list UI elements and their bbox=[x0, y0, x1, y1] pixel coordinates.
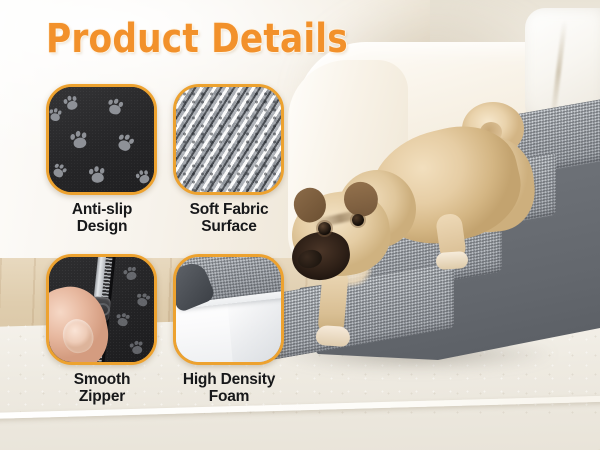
thumbnail-anti-slip-design bbox=[46, 84, 157, 195]
callout-high-density-foam: High Density Foam bbox=[173, 254, 285, 405]
callout-label-smooth-zipper: Smooth Zipper bbox=[46, 372, 158, 405]
callout-label-high-density-foam: High Density Foam bbox=[173, 372, 285, 405]
paw-print-icon bbox=[47, 107, 63, 122]
paw-print-icon bbox=[133, 291, 152, 309]
pug-dog bbox=[286, 96, 556, 366]
page-title: Product Details bbox=[46, 16, 348, 62]
callout-label-line-2: Design bbox=[46, 219, 158, 236]
zipper-fabric-swatch bbox=[49, 257, 154, 362]
anti-slip-fabric-swatch bbox=[49, 87, 154, 192]
callout-label-line-1: Anti-slip bbox=[46, 202, 158, 219]
callout-smooth-zipper: Smooth Zipper bbox=[46, 254, 158, 405]
paw-print-icon bbox=[49, 161, 69, 181]
callout-label-anti-slip-design: Anti-slip Design bbox=[46, 202, 158, 235]
callout-label-line-1: High Density bbox=[173, 372, 285, 389]
callout-anti-slip-design: Anti-slip Design bbox=[46, 84, 158, 235]
dog-eye-right bbox=[352, 214, 364, 226]
paw-print-icon bbox=[105, 97, 126, 117]
thumbnail-soft-fabric-surface bbox=[173, 84, 284, 195]
paw-print-icon bbox=[122, 265, 140, 282]
paw-print-icon bbox=[69, 130, 91, 151]
callout-label-line-2: Surface bbox=[173, 219, 285, 236]
knit-fabric-swatch bbox=[176, 87, 281, 192]
callout-soft-fabric-surface: Soft Fabric Surface bbox=[173, 84, 285, 235]
paw-print-icon bbox=[128, 340, 144, 355]
thumbnail-smooth-zipper bbox=[46, 254, 157, 365]
foam-swatch bbox=[176, 257, 281, 362]
product-details-banner: Product Details Anti-slip Design Soft bbox=[0, 0, 600, 450]
paw-print-icon bbox=[88, 166, 108, 185]
callout-label-soft-fabric-surface: Soft Fabric Surface bbox=[173, 202, 285, 235]
callout-label-line-2: Foam bbox=[173, 389, 285, 406]
paw-print-icon bbox=[114, 131, 138, 154]
thumbnail-high-density-foam bbox=[173, 254, 284, 365]
paw-print-icon bbox=[114, 312, 131, 328]
dog-eye-left bbox=[318, 222, 331, 235]
callout-label-line-2: Zipper bbox=[46, 389, 158, 406]
callout-label-line-1: Smooth bbox=[46, 372, 158, 389]
paw-print-icon bbox=[134, 167, 154, 186]
dog-front-paw bbox=[315, 325, 350, 347]
dog-hind-paw bbox=[435, 251, 468, 270]
paw-print-icon bbox=[61, 93, 81, 112]
callout-label-line-1: Soft Fabric bbox=[173, 202, 285, 219]
